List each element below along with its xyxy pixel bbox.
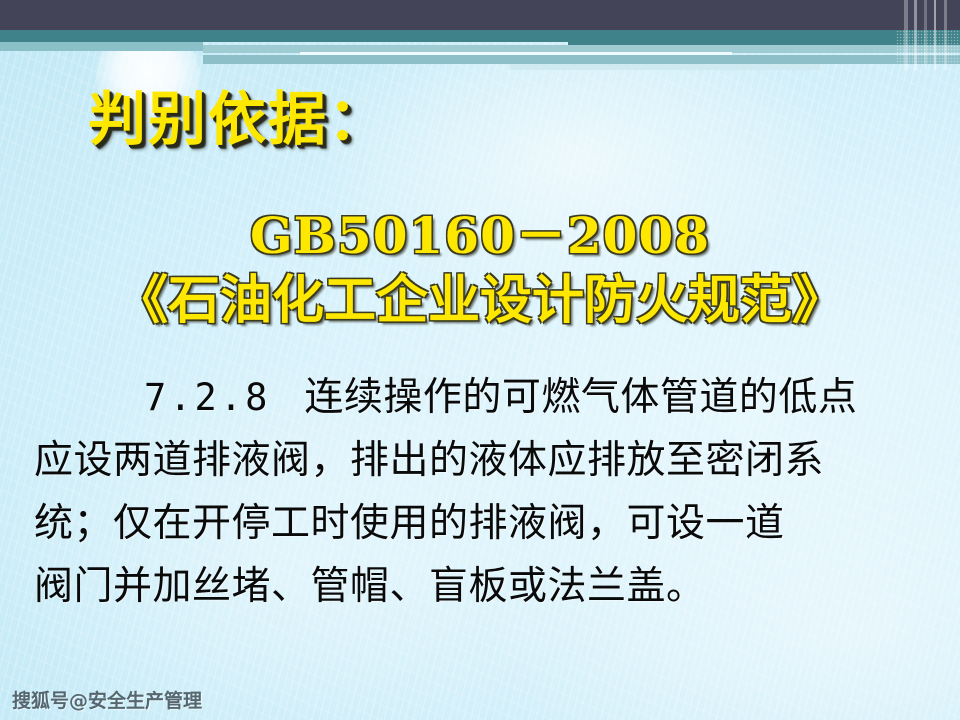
clause-line-1: 7.2.8连续操作的可燃气体管道的低点 [34,366,926,429]
clause-line-4-text: 阀门并加丝堵、管帽、盲板或法兰盖。 [34,564,706,609]
header-teal-band-left [0,30,568,42]
standard-name: 《石油化工企业设计防火规范》 [0,258,960,333]
clause-line-2-text: 应设两道排液阀，排出的液体应排放至密闭系 [34,438,824,483]
slide-canvas: 判别依据： GB50160－2008 《石油化工企业设计防火规范》 7.2.8连… [0,0,960,720]
header-midtone-band [203,55,960,64]
header-pale-band-left [0,42,203,51]
header-lower-fade-band [510,64,820,70]
clause-line-3-text: 统；仅在开停工时使用的排液阀，可设一道 [34,501,785,546]
clause-line-1-text: 连续操作的可燃气体管道的低点 [304,375,857,420]
slide-title: 判别依据： [88,72,388,156]
clause-line-3: 统；仅在开停工时使用的排液阀，可设一道 [34,492,926,555]
footer-watermark: 搜狐号@安全生产管理 [12,686,202,713]
clause-line-2: 应设两道排液阀，排出的液体应排放至密闭系 [34,429,926,492]
header-right-dot-pattern [896,30,960,64]
clause-line-4: 阀门并加丝堵、管帽、盲板或法兰盖。 [34,555,926,618]
clause-body: 7.2.8连续操作的可燃气体管道的低点 应设两道排液阀，排出的液体应排放至密闭系… [34,366,926,618]
header-navy-band [0,0,960,30]
clause-number: 7.2.8 [144,376,270,419]
